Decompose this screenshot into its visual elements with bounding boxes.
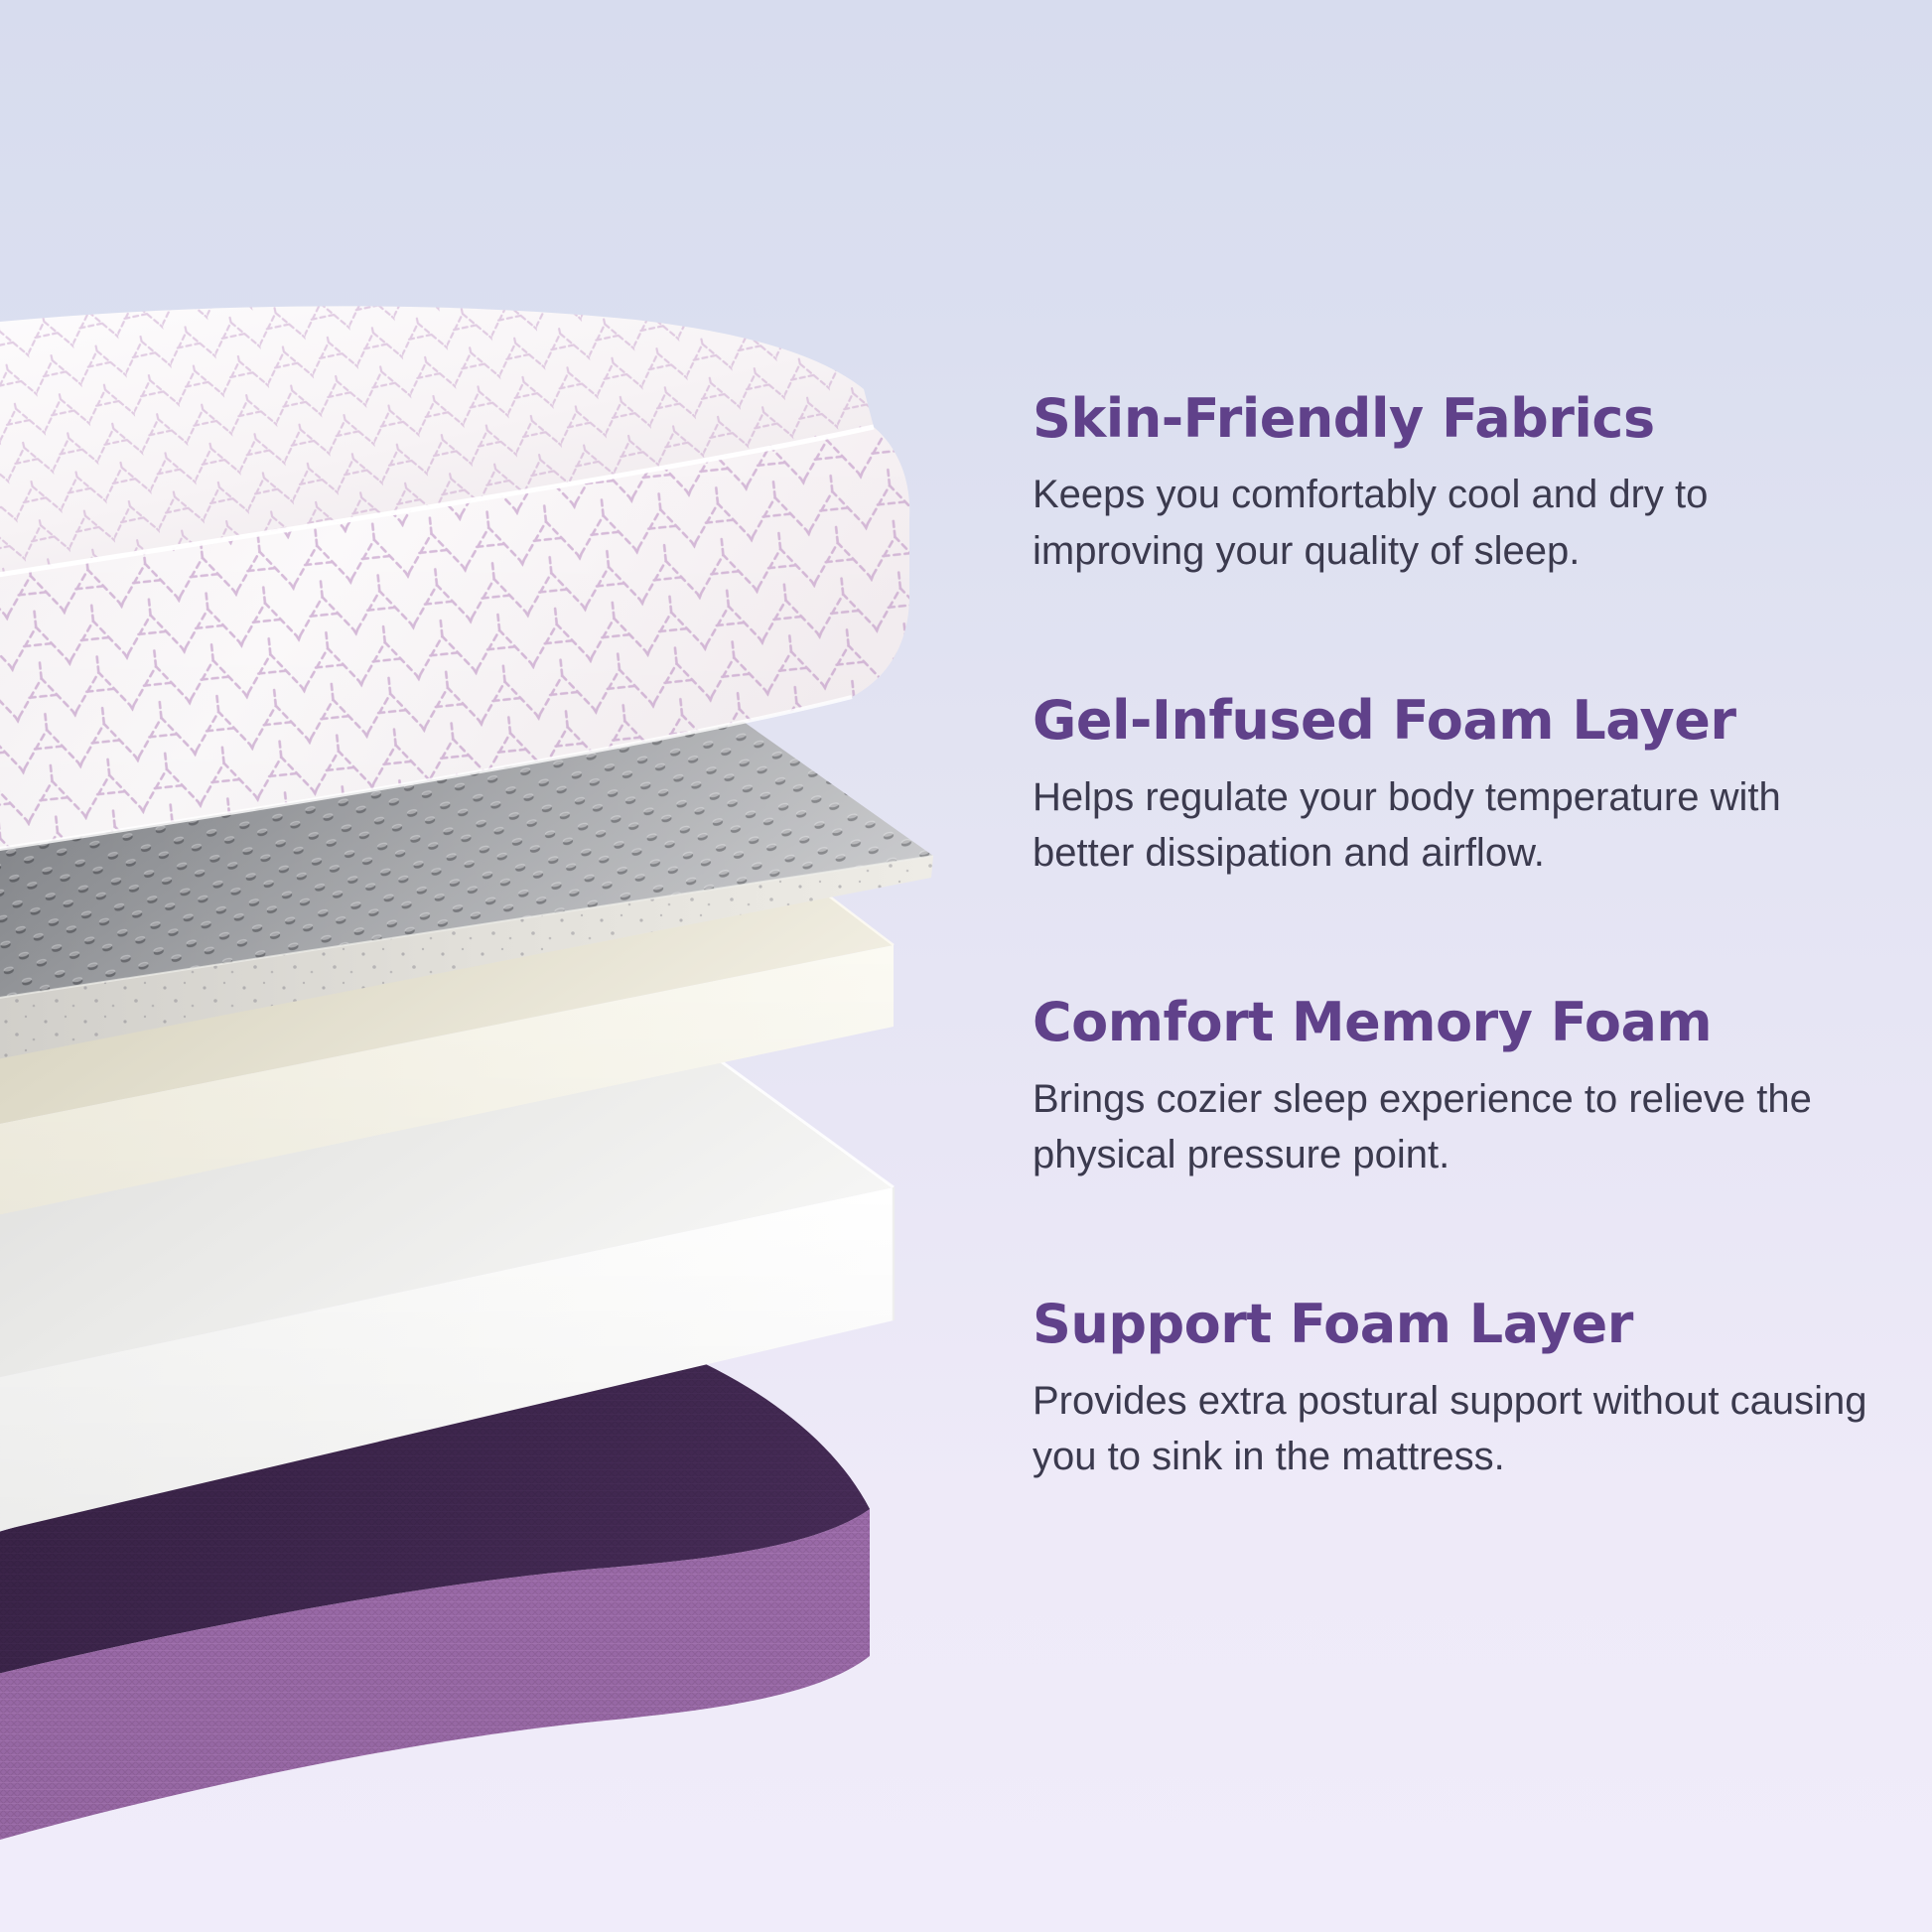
feature-title: Gel-Infused Foam Layer — [1033, 691, 1906, 751]
feature-item-comfort-memory-foam: Comfort Memory Foam Brings cozier sleep … — [1033, 993, 1906, 1183]
feature-title: Skin-Friendly Fabrics — [1033, 389, 1906, 449]
feature-item-gel-infused-foam-layer: Gel-Infused Foam Layer Helps regulate yo… — [1033, 691, 1906, 882]
feature-title: Support Foam Layer — [1033, 1295, 1906, 1354]
feature-item-skin-friendly-fabrics: Skin-Friendly Fabrics Keeps you comforta… — [1033, 389, 1906, 580]
feature-description: Provides extra postural support without … — [1033, 1373, 1886, 1486]
infographic-page: Skin-Friendly Fabrics Keeps you comforta… — [0, 0, 1932, 1932]
feature-item-support-foam-layer: Support Foam Layer Provides extra postur… — [1033, 1295, 1906, 1485]
feature-list: Skin-Friendly Fabrics Keeps you comforta… — [1033, 389, 1906, 1485]
mattress-layer-illustration — [0, 0, 1042, 1932]
feature-description: Keeps you comfortably cool and dry to im… — [1033, 467, 1886, 580]
feature-title: Comfort Memory Foam — [1033, 993, 1906, 1052]
feature-description: Helps regulate your body temperature wit… — [1033, 769, 1886, 883]
feature-description: Brings cozier sleep experience to reliev… — [1033, 1071, 1886, 1184]
